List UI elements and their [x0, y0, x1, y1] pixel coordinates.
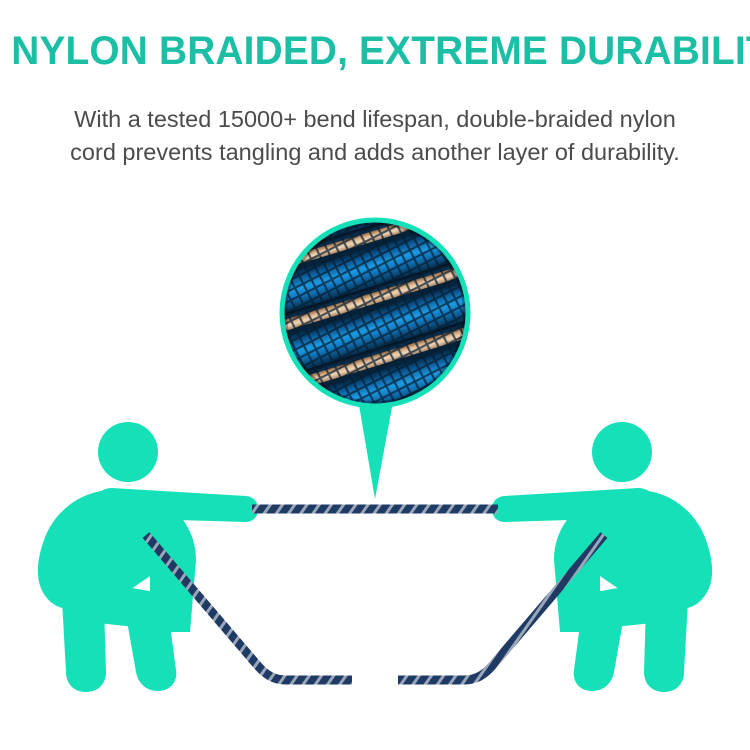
- tug-of-war-graphic: [0, 400, 750, 750]
- figure-leg-front-right: [574, 604, 626, 691]
- figure-arm-left: [96, 488, 258, 522]
- braided-rope: [146, 509, 604, 680]
- figure-head-left: [98, 422, 158, 482]
- product-feature-banner: NYLON BRAIDED, EXTREME DURABILITY With a…: [0, 0, 750, 750]
- tug-of-war-illustration: [0, 400, 750, 750]
- figure-leg-back-left: [62, 600, 106, 692]
- tug-of-war-figure-left: [38, 422, 258, 692]
- figure-head-right: [592, 422, 652, 482]
- description-text: With a tested 15000+ bend lifespan, doub…: [18, 103, 732, 169]
- figure-leg-front-left: [124, 604, 176, 691]
- description-line-2: cord prevents tangling and adds another …: [18, 136, 732, 169]
- tug-of-war-figure-right: [492, 422, 712, 692]
- figure-arm-right: [492, 488, 654, 522]
- description-line-1: With a tested 15000+ bend lifespan, doub…: [18, 103, 732, 136]
- page-title: NYLON BRAIDED, EXTREME DURABILITY: [11, 27, 739, 75]
- figure-leg-back-right: [644, 600, 688, 692]
